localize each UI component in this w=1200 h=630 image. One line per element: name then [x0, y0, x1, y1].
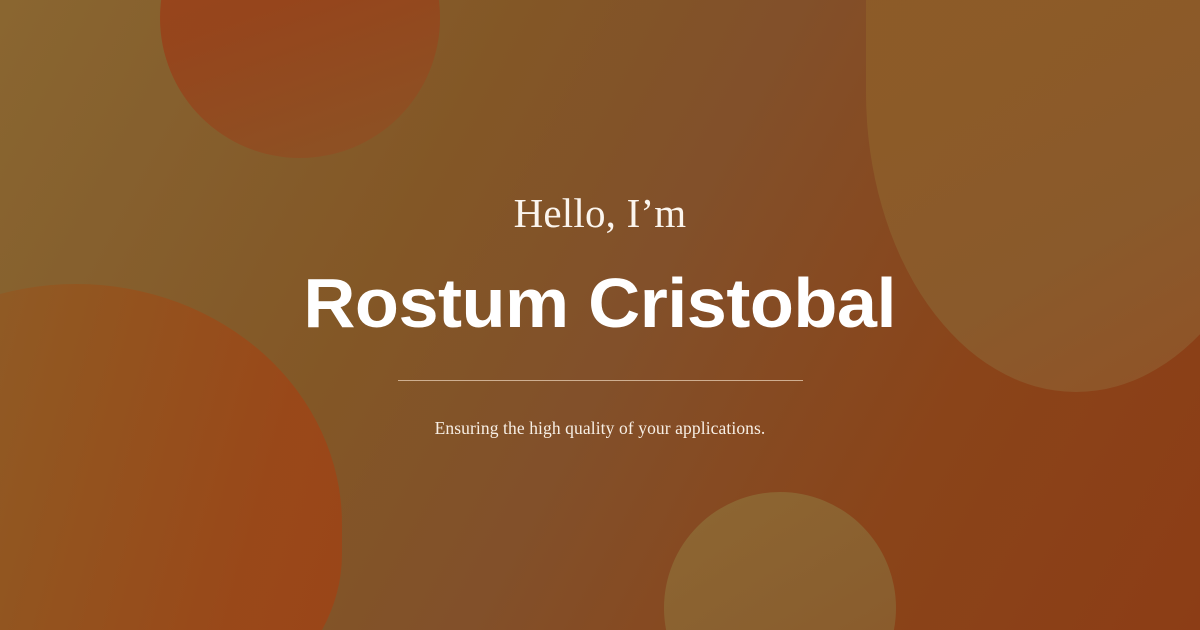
tagline-text: Ensuring the high quality of your applic…	[435, 420, 766, 438]
divider	[398, 380, 803, 381]
greeting-text: Hello, I’m	[514, 193, 687, 234]
hero-banner: Hello, I’m Rostum Cristobal Ensuring the…	[0, 0, 1200, 630]
page-title: Rostum Cristobal	[304, 268, 897, 338]
hero-content: Hello, I’m Rostum Cristobal Ensuring the…	[0, 0, 1200, 630]
